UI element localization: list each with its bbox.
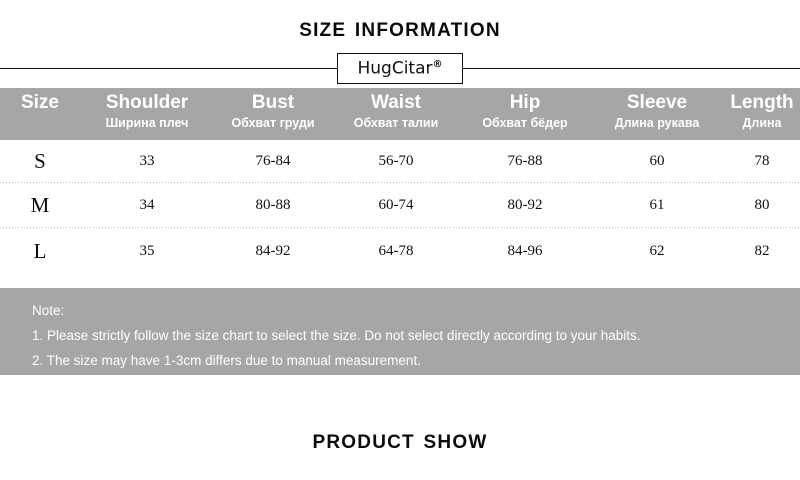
table-row: L 35 84-92 64-78 84-96 62 82 — [0, 228, 800, 275]
column-header-bust-ru: Обхват груди — [231, 115, 314, 131]
page-title: Size Information — [0, 12, 800, 43]
product-show-title: Product Show — [0, 424, 800, 455]
cell-waist: 60-74 — [332, 183, 460, 228]
note-panel: Note: 1. Please strictly follow the size… — [0, 288, 800, 375]
note-line-2: 2. The size may have 1-3cm differs due t… — [32, 348, 800, 373]
column-header-size-en: Size — [21, 91, 59, 114]
note-heading: Note: — [32, 298, 800, 323]
cell-shoulder: 35 — [80, 228, 214, 275]
cell-sleeve: 60 — [590, 140, 724, 183]
brand-logo-box: HugCitar® — [337, 53, 463, 84]
note-line-1: 1. Please strictly follow the size chart… — [32, 323, 800, 348]
column-header-shoulder-ru: Ширина плеч — [106, 115, 189, 131]
cell-hip: 84-96 — [460, 228, 590, 275]
cell-sleeve: 62 — [590, 228, 724, 275]
column-header-bust: Bust Обхват груди — [214, 88, 332, 131]
cell-size: M — [0, 183, 80, 228]
column-header-hip: Hip Обхват бёдер — [460, 88, 590, 131]
cell-length: 78 — [724, 140, 800, 183]
column-header-sleeve-ru: Длина рукава — [615, 115, 700, 131]
column-header-sleeve: Sleeve Длина рукава — [590, 88, 724, 131]
brand-logo-text: HugCitar® — [357, 60, 442, 78]
cell-shoulder: 33 — [80, 140, 214, 183]
table-row: M 34 80-88 60-74 80-92 61 80 — [0, 183, 800, 228]
column-header-bust-en: Bust — [252, 91, 294, 114]
cell-length: 80 — [724, 183, 800, 228]
cell-waist: 64-78 — [332, 228, 460, 275]
cell-hip: 76-88 — [460, 140, 590, 183]
column-header-length-ru: Длина — [742, 115, 781, 131]
brand-logo-strip: HugCitar® — [0, 53, 800, 85]
cell-size: S — [0, 140, 80, 183]
cell-bust: 80-88 — [214, 183, 332, 228]
column-header-waist-ru: Обхват талии — [354, 115, 439, 131]
cell-shoulder: 34 — [80, 183, 214, 228]
column-header-hip-ru: Обхват бёдер — [482, 115, 567, 131]
column-header-length: Length Длина — [724, 88, 800, 131]
column-header-size: Size — [0, 88, 80, 115]
cell-waist: 56-70 — [332, 140, 460, 183]
registered-trademark-icon: ® — [433, 59, 443, 70]
column-header-sleeve-en: Sleeve — [627, 91, 687, 114]
brand-name: HugCitar — [357, 58, 432, 78]
cell-sleeve: 61 — [590, 183, 724, 228]
column-header-waist: Waist Обхват талии — [332, 88, 460, 131]
column-header-shoulder: Shoulder Ширина плеч — [80, 88, 214, 131]
table-row: S 33 76-84 56-70 76-88 60 78 — [0, 140, 800, 183]
cell-size: L — [0, 228, 80, 275]
column-header-waist-en: Waist — [371, 91, 421, 114]
cell-bust: 84-92 — [214, 228, 332, 275]
cell-bust: 76-84 — [214, 140, 332, 183]
table-header-row: Size Shoulder Ширина плеч Bust Обхват гр… — [0, 88, 800, 140]
column-header-shoulder-en: Shoulder — [106, 91, 188, 114]
column-header-length-en: Length — [730, 91, 793, 114]
cell-length: 82 — [724, 228, 800, 275]
size-chart-table: Size Shoulder Ширина плеч Bust Обхват гр… — [0, 88, 800, 275]
column-header-hip-en: Hip — [510, 91, 541, 114]
cell-hip: 80-92 — [460, 183, 590, 228]
